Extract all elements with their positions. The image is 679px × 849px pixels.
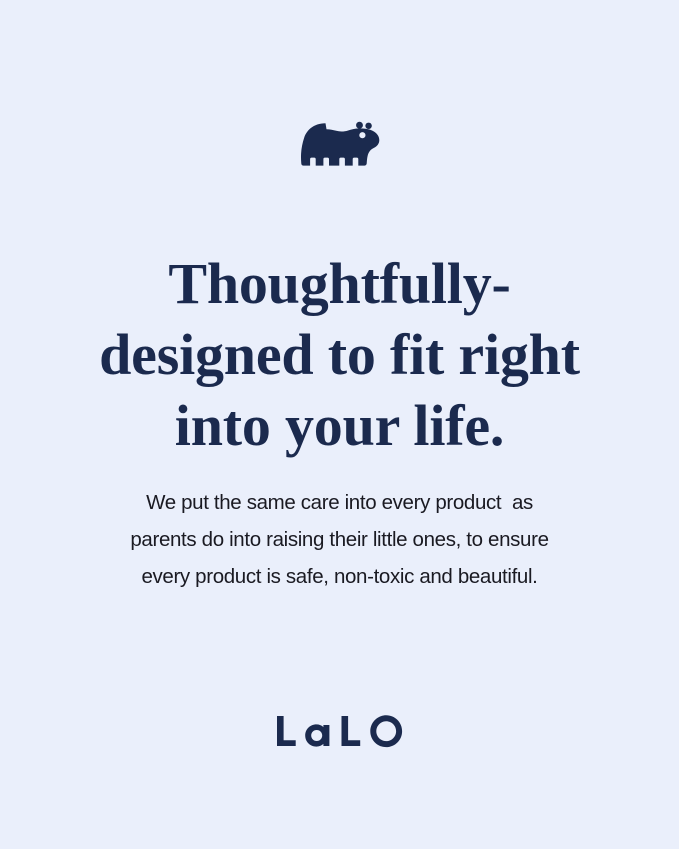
headline: Thoughtfully- designed to fit right into… (0, 248, 679, 461)
promo-poster: Thoughtfully- designed to fit right into… (0, 0, 679, 849)
body-line-1: We put the same care into every product … (0, 484, 679, 521)
lalo-wordmark (0, 712, 679, 752)
body-line-2: parents do into raising their little one… (0, 521, 679, 558)
headline-line-1: Thoughtfully- (0, 248, 679, 319)
body-line-3: every product is safe, non-toxic and bea… (0, 558, 679, 595)
headline-line-2: designed to fit right (0, 319, 679, 390)
hippo-logo (299, 120, 381, 172)
headline-line-3: into your life. (0, 390, 679, 461)
body-copy: We put the same care into every product … (0, 484, 679, 595)
